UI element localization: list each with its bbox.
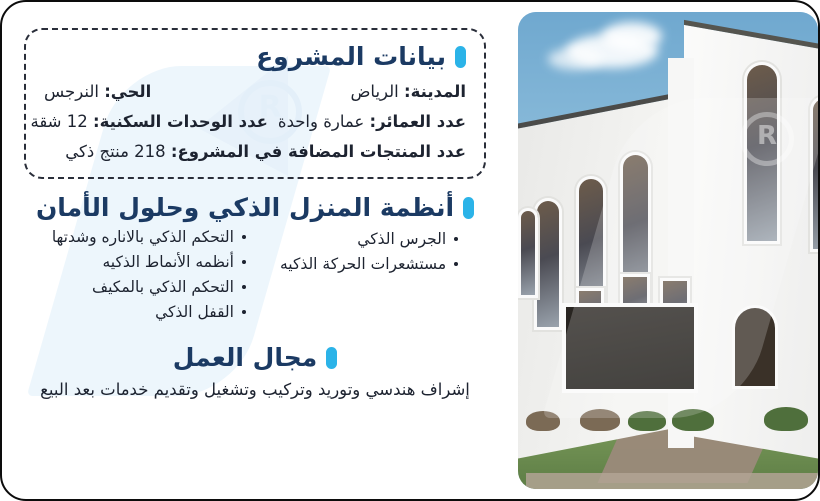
list-item: القفل الذكي (155, 303, 246, 321)
feature-label: القفل الذكي (155, 303, 234, 321)
info-label: المدينة: (404, 82, 466, 101)
list-item: التحكم الذكي بالاناره وشدتها (52, 228, 246, 246)
list-item: مستشعرات الحركة الذكيه (280, 255, 458, 273)
info-row: المدينة: الرياض الحي: النرجس (44, 82, 466, 101)
smart-home-heading: أنظمة المنزل الذكي وحلول الأمان (24, 193, 486, 222)
info-row: عدد العمائر: عمارة واحدة عدد الوحدات الس… (44, 112, 466, 131)
shrub (764, 407, 808, 431)
photo-panel: R (508, 2, 818, 499)
cloud-icon (602, 22, 662, 50)
window (518, 208, 538, 298)
window (744, 62, 780, 244)
list-item: الجرس الذكي (357, 230, 458, 248)
feature-label: مستشعرات الحركة الذكيه (280, 255, 446, 273)
accent-pill-icon (455, 46, 466, 68)
info-value: عمارة واحدة (278, 112, 364, 131)
info-cell-units: عدد الوحدات السكنية: 12 شقة (30, 112, 267, 131)
work-field-description: إشراف هندسي وتوريد وتركيب وتشغيل وتقديم … (24, 380, 486, 399)
info-value: الرياض (350, 82, 398, 101)
building-photo: R (518, 12, 818, 489)
list-item: أنظمه الأنماط الذكيه (102, 253, 245, 271)
content-panel: R بيانات المشروع المدينة: الرياض الحي: ا… (2, 2, 508, 499)
info-cell-products: عدد المنتجات المضافة في المشروع: 218 منت… (65, 142, 466, 161)
info-label: عدد الوحدات السكنية: (93, 112, 268, 131)
project-data-box: بيانات المشروع المدينة: الرياض الحي: الن… (24, 28, 486, 179)
info-cell-buildings: عدد العمائر: عمارة واحدة (278, 112, 466, 131)
feature-column-right: التحكم الذكي بالاناره وشدتها أنظمه الأنم… (52, 228, 246, 321)
window (810, 96, 818, 252)
bullet-icon (242, 285, 246, 289)
smart-home-feature-columns: الجرس الذكي مستشعرات الحركة الذكيه التحك… (24, 228, 486, 321)
shrub (526, 411, 560, 431)
list-item: التحكم الذكي بالمكيف (92, 278, 246, 296)
cloud-icon (548, 48, 602, 70)
info-cell-district: الحي: النرجس (44, 82, 151, 101)
project-data-title: بيانات المشروع (256, 42, 446, 71)
shrub (580, 409, 620, 431)
info-cell-city: المدينة: الرياض (350, 82, 466, 101)
work-field-section: مجال العمل إشراف هندسي وتوريد وتركيب وتش… (24, 343, 486, 399)
bullet-icon (454, 237, 458, 241)
shrub (628, 411, 666, 431)
info-value: النرجس (44, 82, 99, 101)
info-label: عدد العمائر: (370, 112, 467, 131)
bullet-icon (242, 260, 246, 264)
feature-column-left: الجرس الذكي مستشعرات الحركة الذكيه (280, 228, 458, 321)
info-label: عدد المنتجات المضافة في المشروع: (171, 142, 466, 161)
work-field-heading: مجال العمل (24, 343, 486, 372)
work-field-title: مجال العمل (173, 343, 317, 372)
project-card: R بيانات المشروع المدينة: الرياض الحي: ا… (0, 0, 820, 501)
feature-label: الجرس الذكي (357, 230, 446, 248)
side-door (732, 305, 778, 389)
accent-pill-icon (326, 347, 337, 369)
feature-label: التحكم الذكي بالاناره وشدتها (52, 228, 234, 246)
window (534, 198, 562, 330)
smart-home-title: أنظمة المنزل الذكي وحلول الأمان (36, 193, 454, 222)
accent-pill-icon (463, 197, 474, 219)
info-value: 218 منتج ذكي (65, 142, 165, 161)
smart-home-section: أنظمة المنزل الذكي وحلول الأمان الجرس ال… (24, 193, 486, 321)
feature-label: التحكم الذكي بالمكيف (92, 278, 234, 296)
bullet-icon (454, 262, 458, 266)
info-label: الحي: (104, 82, 151, 101)
building-entrance (562, 303, 698, 393)
project-data-heading: بيانات المشروع (44, 42, 466, 71)
walkway-edge (526, 473, 818, 489)
bullet-icon (242, 310, 246, 314)
info-row: عدد المنتجات المضافة في المشروع: 218 منت… (44, 142, 466, 161)
info-value: 12 شقة (30, 112, 87, 131)
feature-label: أنظمه الأنماط الذكيه (102, 253, 233, 271)
bullet-icon (242, 235, 246, 239)
shrub (672, 409, 714, 431)
